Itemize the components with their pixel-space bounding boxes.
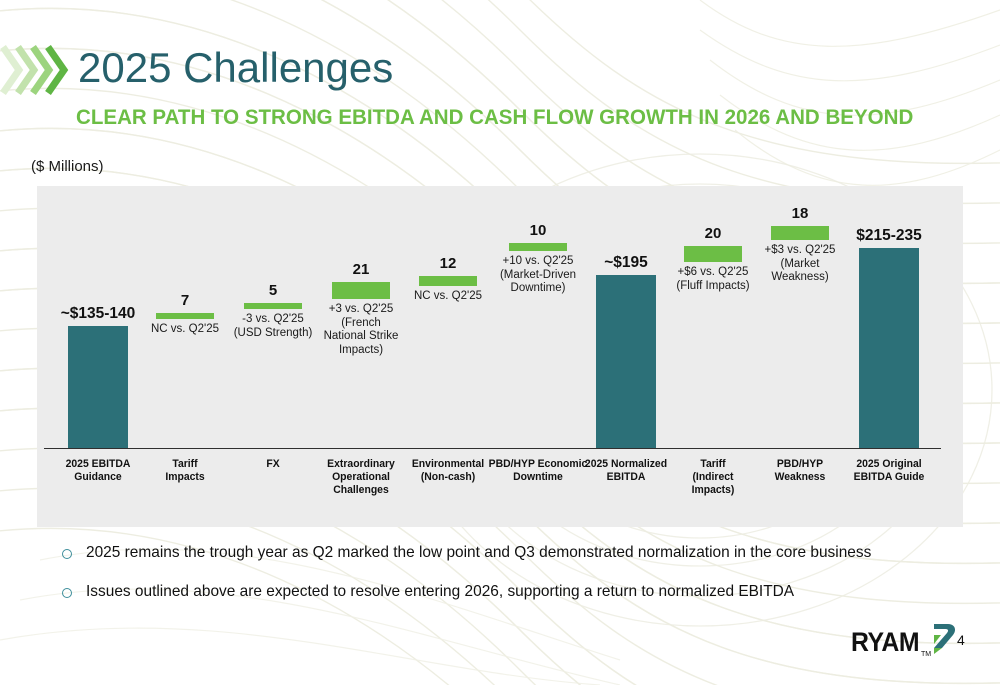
bar-value-label: 5 <box>269 282 277 299</box>
category-label: Environmental (Non-cash) <box>396 458 500 484</box>
units-label: ($ Millions) <box>31 158 104 175</box>
delta-bar <box>684 246 742 262</box>
bar-annotation: +10 vs. Q2'25 (Market-Driven Downtime) <box>485 255 591 296</box>
chart-column: ~$1952025 Normalized EBITDA <box>581 186 671 527</box>
total-bar <box>859 248 919 448</box>
bar-value-label: 21 <box>353 261 370 278</box>
bar-value-label: 10 <box>530 222 547 239</box>
circle-bullet-icon <box>62 588 72 598</box>
page-subtitle: CLEAR PATH TO STRONG EBITDA AND CASH FLO… <box>76 104 913 131</box>
trademark-symbol: TM <box>921 651 931 658</box>
chart-column: 18+$3 vs. Q2'25 (Market Weakness)PBD/HYP… <box>755 186 845 527</box>
circle-bullet-icon <box>62 549 72 559</box>
chart-column: 5-3 vs. Q2'25 (USD Strength)FX <box>228 186 318 527</box>
bullet-text: Issues outlined above are expected to re… <box>86 582 794 602</box>
bar-value-label: ~$195 <box>604 254 648 272</box>
delta-bar <box>156 313 214 319</box>
delta-bar <box>332 282 390 299</box>
bar-value-label: ~$135-140 <box>61 305 136 323</box>
chart-column: 20+$6 vs. Q2'25 (Fluff Impacts)Tariff (I… <box>668 186 758 527</box>
chart-column: 21+3 vs. Q2'25 (French National Strike I… <box>316 186 406 527</box>
bullet-text: 2025 remains the trough year as Q2 marke… <box>86 543 871 563</box>
bar-annotation: +3 vs. Q2'25 (French National Strike Imp… <box>308 303 414 357</box>
bar-value-label: 20 <box>705 225 722 242</box>
chart-column: 7NC vs. Q2'25Tariff Impacts <box>140 186 230 527</box>
page-title: 2025 Challenges <box>78 42 393 94</box>
list-item: Issues outlined above are expected to re… <box>62 582 942 602</box>
list-item: 2025 remains the trough year as Q2 marke… <box>62 543 942 563</box>
bar-value-label: 18 <box>792 205 809 222</box>
total-bar <box>596 275 656 448</box>
chart-column: $215-2352025 Original EBITDA Guide <box>844 186 934 527</box>
bar-value-label: 7 <box>181 292 189 309</box>
chart-column: 10+10 vs. Q2'25 (Market-Driven Downtime)… <box>493 186 583 527</box>
brand-logo: RYAM TM <box>851 622 958 661</box>
chart-column: ~$135-1402025 EBITDA Guidance <box>53 186 143 527</box>
delta-bar <box>509 243 567 251</box>
chevron-logo-icon <box>0 42 70 98</box>
waterfall-chart: ~$135-1402025 EBITDA Guidance7NC vs. Q2'… <box>37 186 963 527</box>
delta-bar <box>419 276 477 286</box>
bar-value-label: 12 <box>440 255 457 272</box>
bar-value-label: $215-235 <box>856 227 922 245</box>
bar-annotation: +$3 vs. Q2'25 (Market Weakness) <box>747 244 853 285</box>
delta-bar <box>244 303 302 309</box>
total-bar <box>68 326 128 448</box>
chart-column: 12NC vs. Q2'25Environmental (Non-cash) <box>403 186 493 527</box>
category-label: 2025 Original EBITDA Guide <box>837 458 941 484</box>
brand-swoosh-icon <box>932 622 958 661</box>
brand-wordmark: RYAM <box>851 627 919 657</box>
page-number: 4 <box>957 632 965 648</box>
bullet-list: 2025 remains the trough year as Q2 marke… <box>62 543 942 621</box>
delta-bar <box>771 226 829 240</box>
